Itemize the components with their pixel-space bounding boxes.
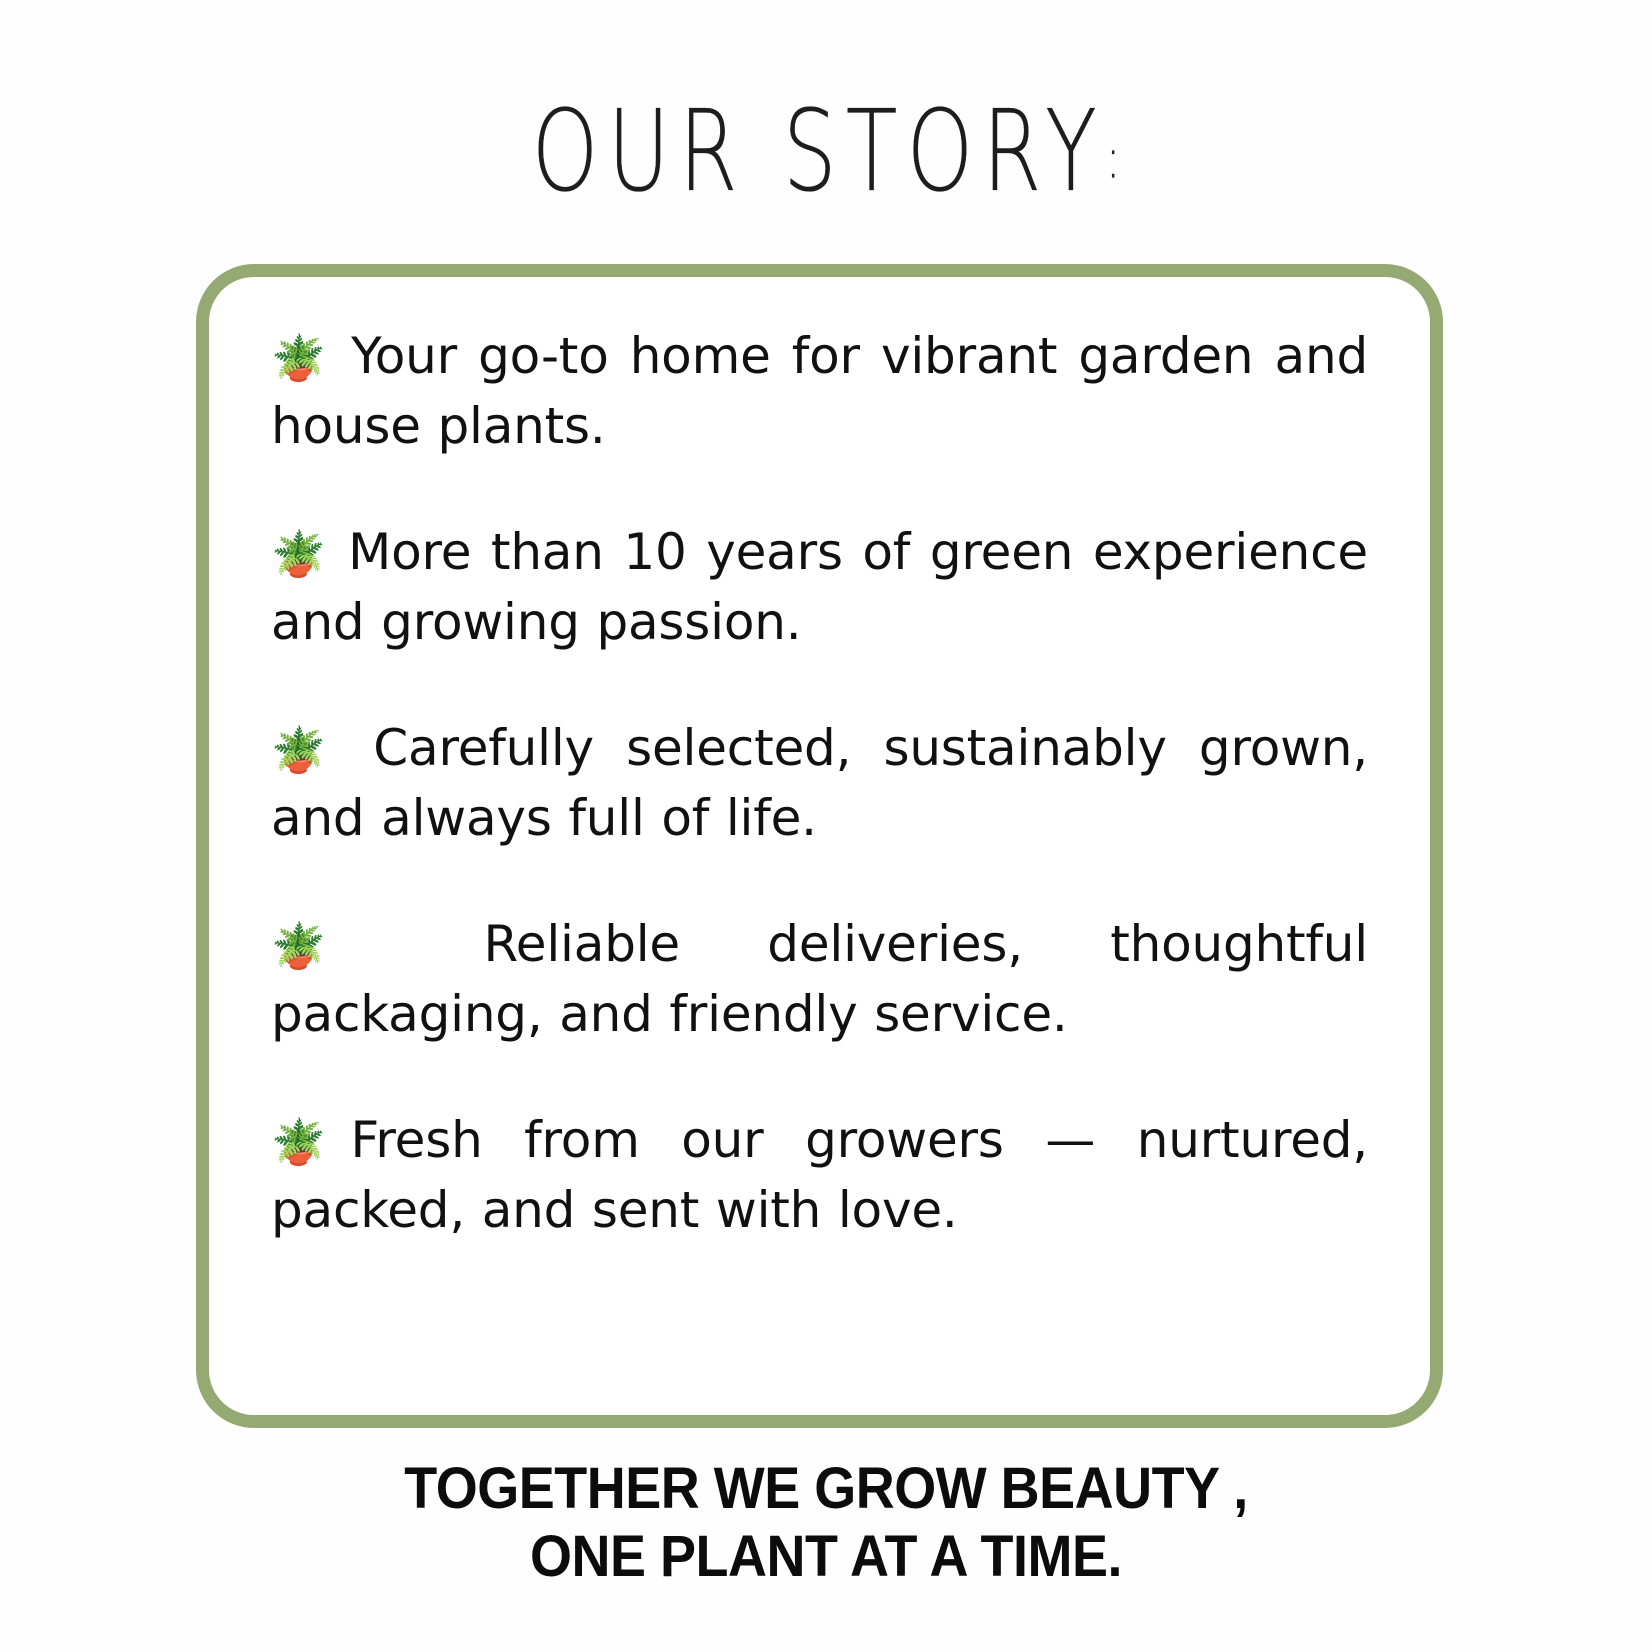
story-card: 🪴 Your go-to home for vibrant garden and…	[196, 264, 1443, 1428]
page-title-colon: :	[1106, 125, 1120, 191]
story-bullet-list: 🪴 Your go-to home for vibrant garden and…	[271, 321, 1368, 1245]
list-item-text: Carefully selected, sustainably grown, a…	[271, 719, 1368, 847]
list-item-text: Fresh from our growers — nurtured, packe…	[271, 1111, 1368, 1239]
list-item: 🪴 Reliable deliveries, thoughtful packag…	[271, 909, 1368, 1049]
list-item: 🪴 Carefully selected, sustainably grown,…	[271, 713, 1368, 853]
potted-plant-icon: 🪴	[271, 725, 341, 776]
page-title: OUR STORY:	[66, 96, 1586, 208]
tagline-line-1: TOGETHER WE GROW BEAUTY ,	[58, 1455, 1594, 1523]
page-title-text: OUR STORY	[532, 86, 1106, 217]
list-item: 🪴Fresh from our growers — nurtured, pack…	[271, 1105, 1368, 1245]
footer-tagline: TOGETHER WE GROW BEAUTY , ONE PLANT AT A…	[58, 1455, 1594, 1592]
tagline-line-2: ONE PLANT AT A TIME.	[58, 1523, 1594, 1591]
list-item-text: Your go-to home for vibrant garden and h…	[271, 327, 1368, 455]
story-page: OUR STORY: 🪴 Your go-to home for vibrant…	[0, 0, 1652, 1652]
potted-plant-icon: 🪴	[271, 1117, 350, 1168]
list-item: 🪴 More than 10 years of green experience…	[271, 517, 1368, 657]
potted-plant-icon: 🪴	[271, 921, 396, 972]
potted-plant-icon: 🪴	[271, 333, 330, 384]
potted-plant-icon: 🪴	[271, 529, 329, 580]
list-item-text: Reliable deliveries, thoughtful packagin…	[271, 915, 1368, 1043]
list-item-text: More than 10 years of green experience a…	[271, 523, 1368, 651]
list-item: 🪴 Your go-to home for vibrant garden and…	[271, 321, 1368, 461]
